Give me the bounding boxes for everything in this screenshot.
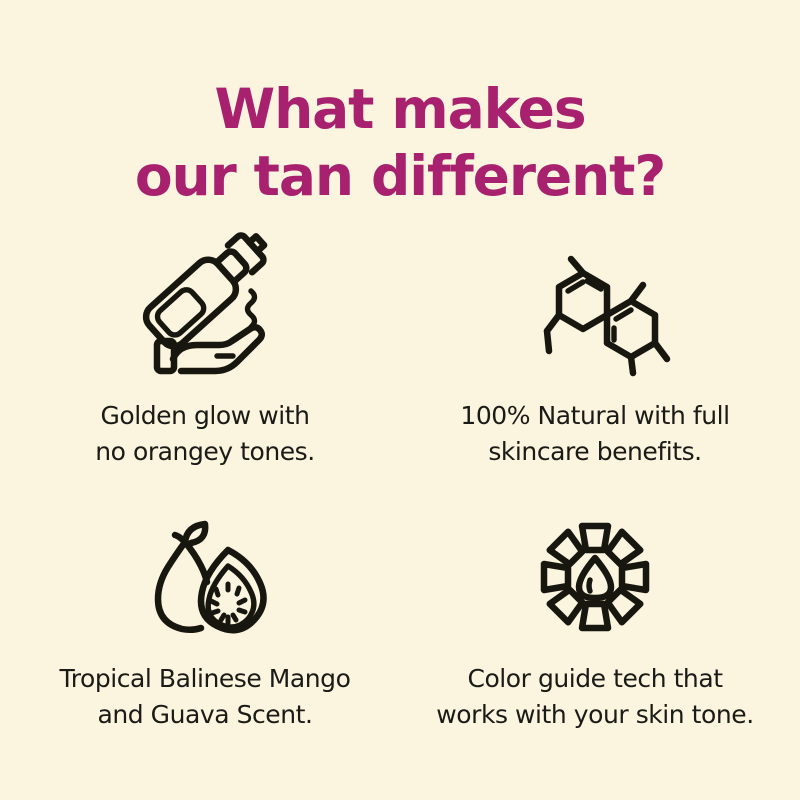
feature-item-golden-glow: Golden glow with no orangey tones. bbox=[10, 254, 400, 469]
feature-caption: Tropical Balinese Mango and Guava Scent. bbox=[60, 661, 351, 732]
page-title: What makes our tan different? bbox=[40, 0, 760, 210]
feature-caption-line-1: 100% Natural with full bbox=[460, 398, 729, 434]
feature-caption: Golden glow with no orangey tones. bbox=[95, 398, 314, 469]
mango-guava-fruit-icon bbox=[135, 517, 275, 637]
feature-caption: 100% Natural with full skincare benefits… bbox=[460, 398, 729, 469]
feature-caption-line-1: Golden glow with bbox=[95, 398, 314, 434]
color-wheel-droplet-icon bbox=[532, 517, 658, 637]
feature-caption-line-2: and Guava Scent. bbox=[60, 697, 351, 733]
feature-caption-line-2: works with your skin tone. bbox=[436, 697, 753, 733]
feature-caption-line-2: skincare benefits. bbox=[460, 434, 729, 470]
lotion-bottle-hand-icon bbox=[129, 254, 281, 374]
feature-caption-line-1: Tropical Balinese Mango bbox=[60, 661, 351, 697]
feature-item-natural: 100% Natural with full skincare benefits… bbox=[400, 254, 790, 469]
page-title-line-1: What makes bbox=[40, 76, 760, 143]
page-title-line-2: our tan different? bbox=[40, 143, 760, 210]
feature-caption-line-1: Color guide tech that bbox=[436, 661, 753, 697]
feature-caption: Color guide tech that works with your sk… bbox=[436, 661, 753, 732]
promo-poster: What makes our tan different? bbox=[0, 0, 800, 800]
feature-grid: Golden glow with no orangey tones. bbox=[10, 254, 790, 732]
color-wheel-segments bbox=[544, 526, 646, 628]
molecule-icon bbox=[521, 254, 669, 374]
feature-item-color-guide: Color guide tech that works with your sk… bbox=[400, 517, 790, 732]
feature-caption-line-2: no orangey tones. bbox=[95, 434, 314, 470]
feature-item-scent: Tropical Balinese Mango and Guava Scent. bbox=[10, 517, 400, 732]
